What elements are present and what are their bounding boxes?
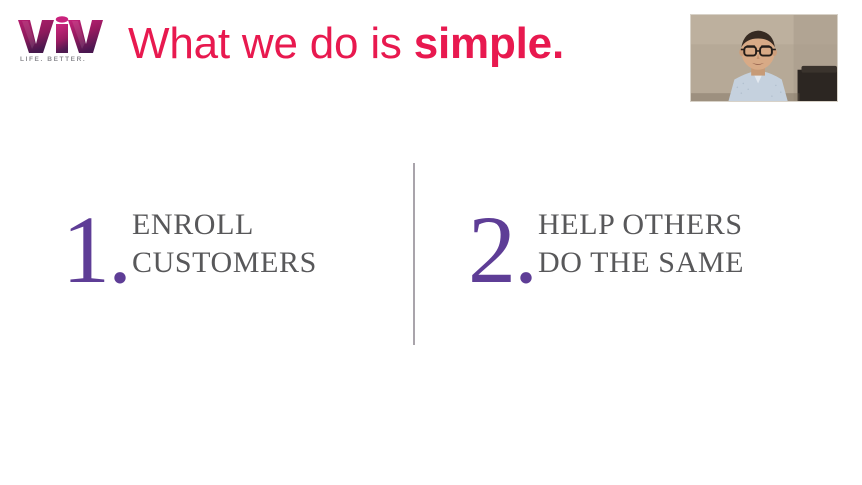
presentation-slide: LIFE. BETTER. What we do is simple. [0, 0, 862, 485]
point-2-line-1: HELP OTHERS [538, 206, 744, 244]
column-divider [413, 163, 415, 345]
points-section: 1. ENROLL CUSTOMERS 2. HELP OTHERS DO TH… [0, 150, 862, 360]
viv-logo: LIFE. BETTER. [16, 16, 108, 74]
point-item-2: 2. HELP OTHERS DO THE SAME [468, 202, 744, 286]
page-title: What we do is simple. [128, 18, 564, 70]
viv-wordmark-icon [16, 16, 104, 54]
headline-period: . [552, 19, 564, 68]
slide-lower-blank-area [0, 362, 862, 485]
point-item-1: 1. ENROLL CUSTOMERS [62, 202, 317, 286]
point-2-number: 2. [468, 208, 536, 292]
headline-emphasis: simple [414, 19, 552, 68]
point-2-line-2: DO THE SAME [538, 244, 744, 282]
headline-lead: What we do is [128, 19, 414, 68]
webcam-frame [691, 15, 837, 101]
point-1-line-1: ENROLL [132, 206, 317, 244]
point-2-text: HELP OTHERS DO THE SAME [538, 206, 744, 282]
point-1-text: ENROLL CUSTOMERS [132, 206, 317, 282]
point-1-line-2: CUSTOMERS [132, 244, 317, 282]
presenter-webcam-video[interactable] [690, 14, 838, 102]
logo-tagline: LIFE. BETTER. [20, 56, 108, 63]
point-1-number: 1. [62, 208, 130, 292]
